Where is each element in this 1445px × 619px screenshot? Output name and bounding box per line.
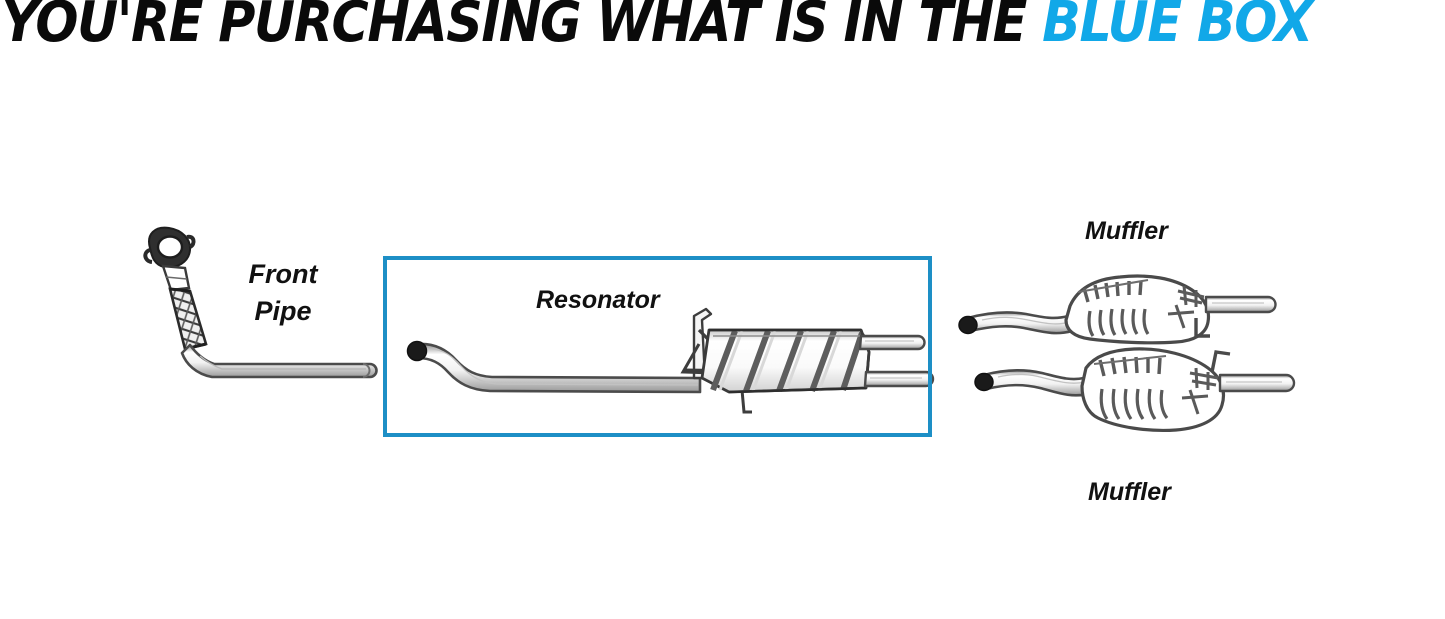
label-muffler-top: Muffler <box>1085 217 1168 246</box>
label-front-pipe: Front Pipe <box>238 256 328 330</box>
muffler-bottom-inlet-cap <box>975 374 993 391</box>
front-pipe-tube <box>182 345 377 377</box>
label-resonator: Resonator <box>536 286 660 315</box>
muffler-top-inlet-cap <box>959 317 977 334</box>
part-muffler-top <box>959 276 1276 343</box>
blue-highlight-box <box>383 256 932 437</box>
muffler-bottom-inlet-pipe <box>975 370 1088 395</box>
muffler-top-body <box>1066 276 1208 343</box>
front-pipe-flange-ring <box>145 228 193 268</box>
front-pipe-collar <box>163 266 189 290</box>
muffler-top-inlet-pipe <box>959 312 1072 333</box>
muffler-bottom-body <box>1082 349 1223 431</box>
label-front-pipe-line2: Pipe <box>238 293 328 330</box>
part-muffler-bottom <box>975 349 1294 431</box>
muffler-bottom-outlet-pipe <box>1212 352 1294 391</box>
label-muffler-bottom: Muffler <box>1088 478 1171 507</box>
front-pipe-flex-section <box>170 289 206 349</box>
label-front-pipe-line1: Front <box>238 256 328 293</box>
